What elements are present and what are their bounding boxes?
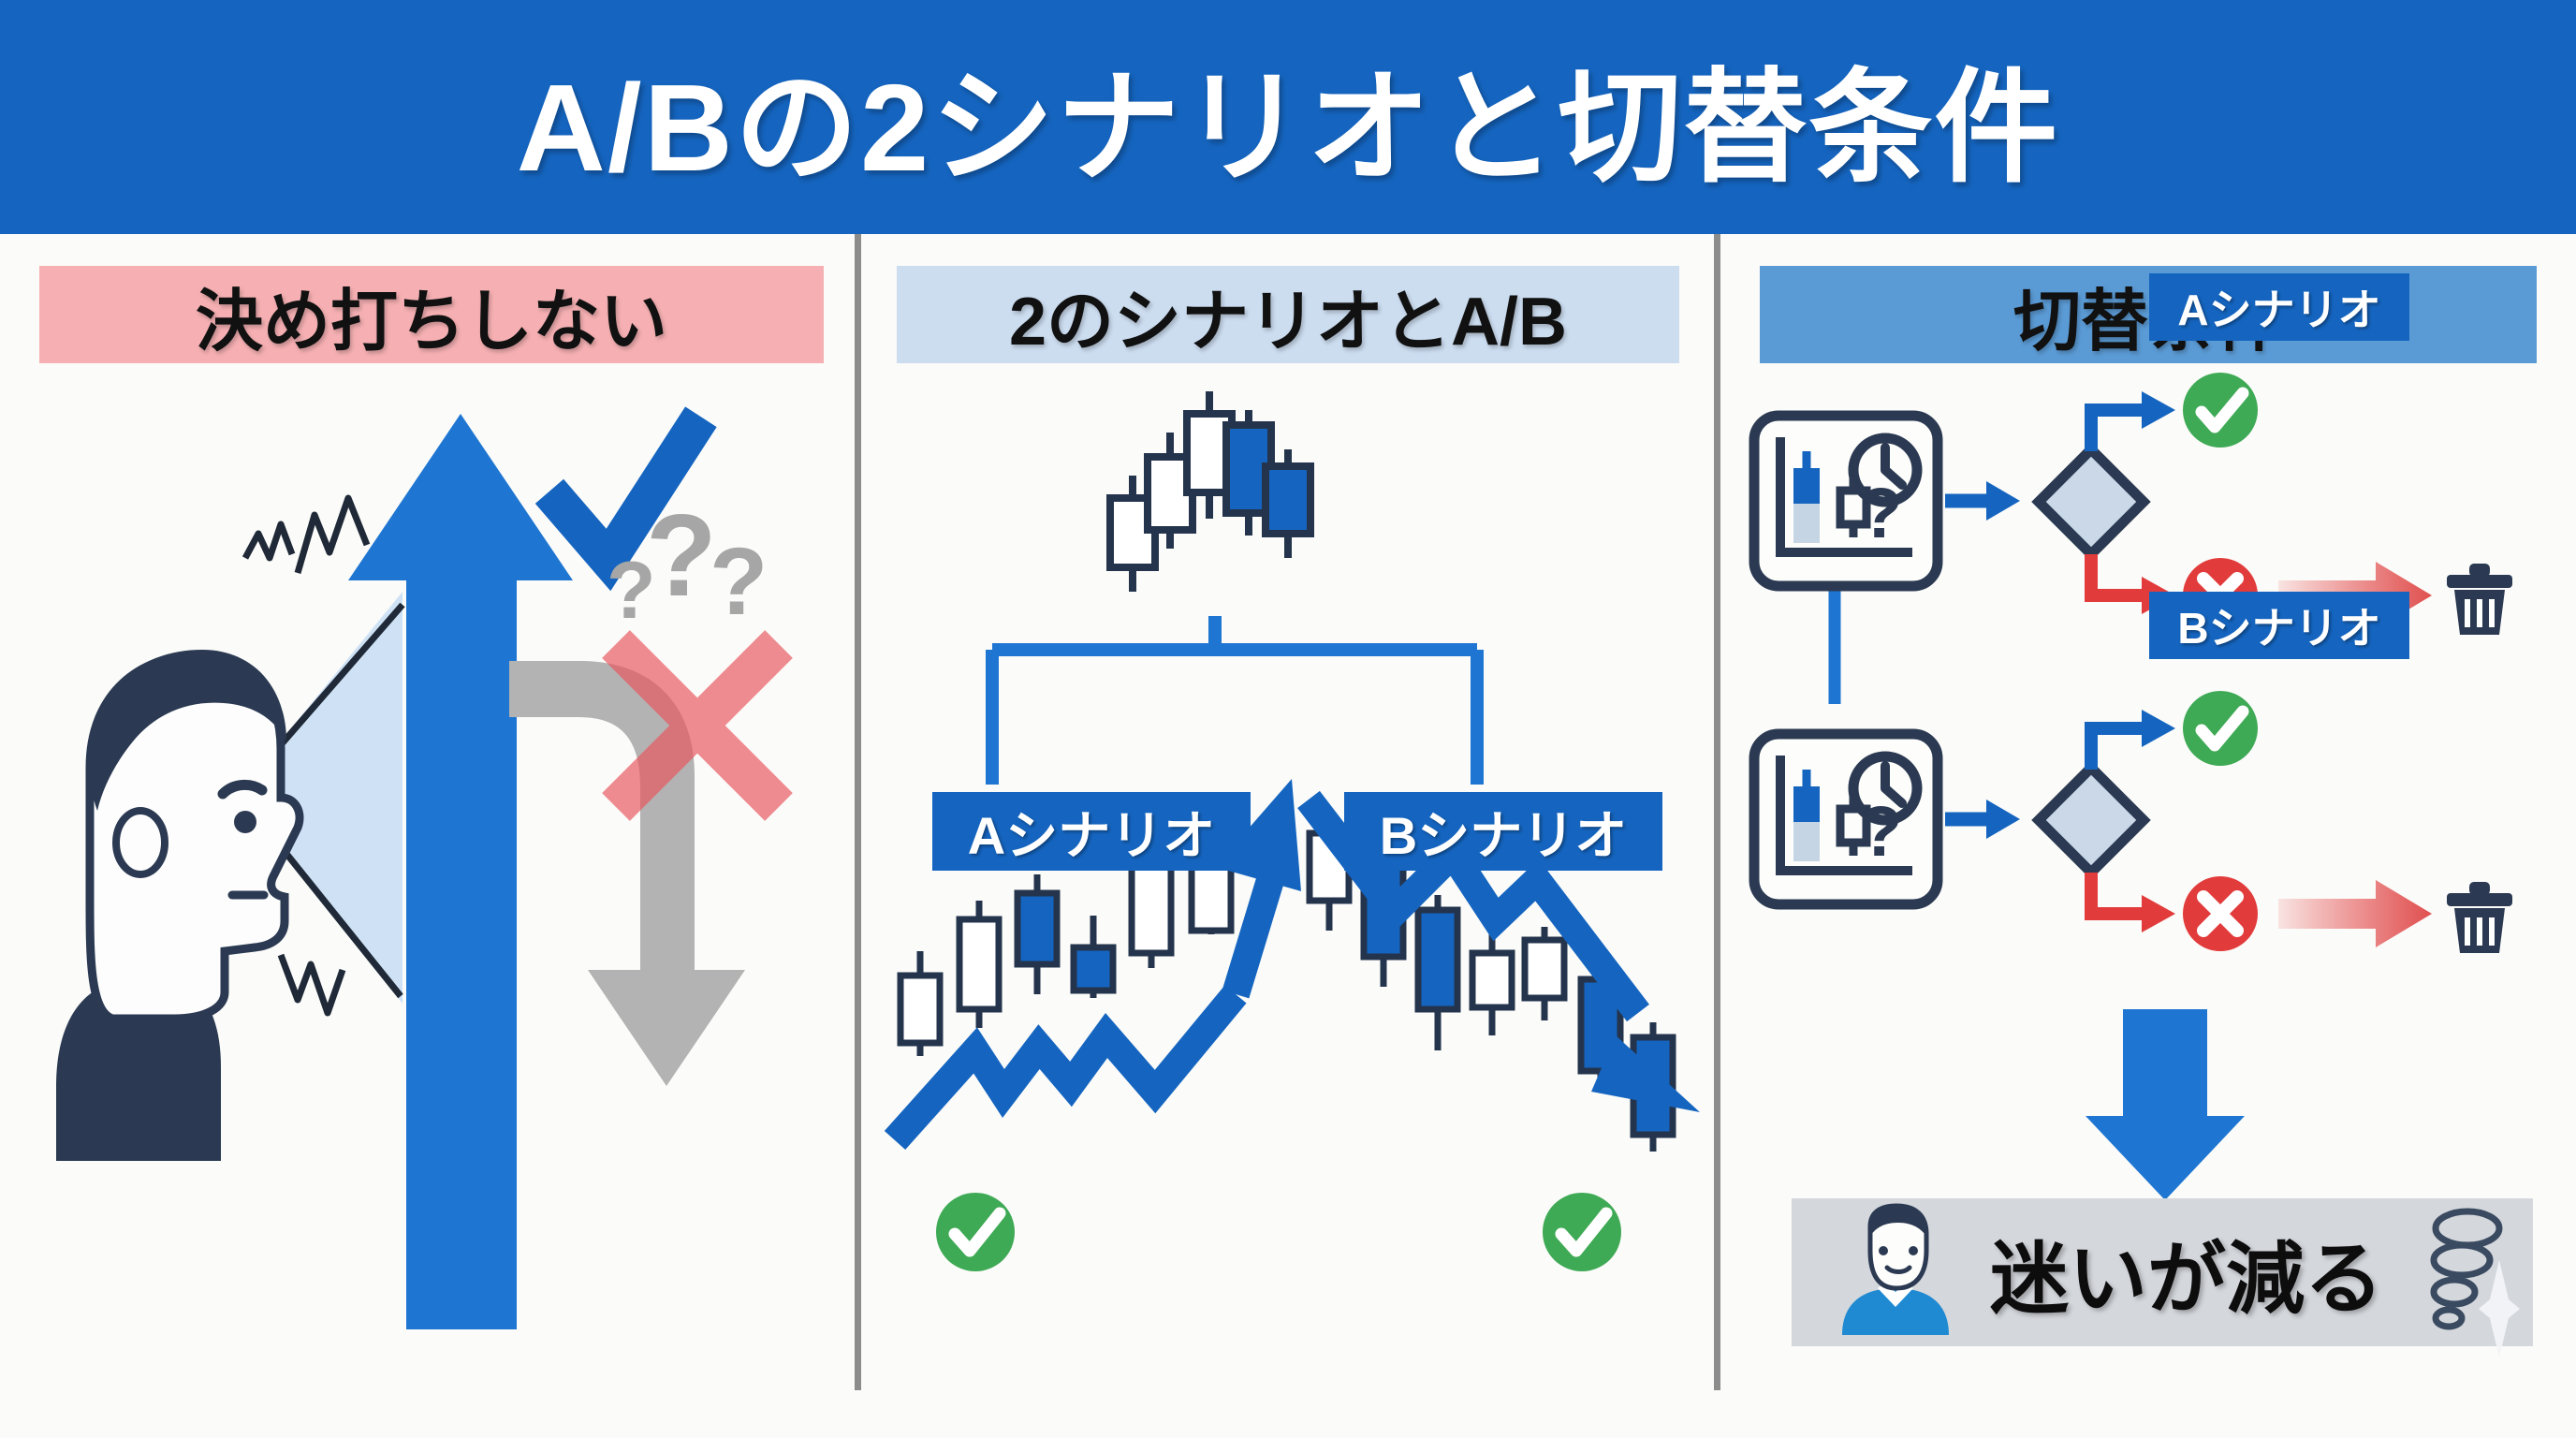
yes-branch-arrow <box>2091 710 2175 770</box>
panel-1-header: 決め打ちしない <box>39 266 824 363</box>
green-check-icon <box>2183 373 2258 448</box>
outcome-text: 迷いが減る <box>1990 1216 2383 1329</box>
no-branch-arrow <box>2091 873 2175 932</box>
person-profile-icon <box>56 650 300 1161</box>
title-banner: A/Bの2シナリオと切替条件 <box>0 0 2576 234</box>
candlestick-cluster-icon <box>1110 391 1310 592</box>
scenario-a-label-tree[interactable]: Aシナリオ <box>932 792 1251 871</box>
panels-container: 決め打ちしない <box>0 234 2576 1438</box>
panel-2-illustration <box>861 380 1715 1438</box>
chart-clock-question-card-icon[interactable]: ? <box>1754 734 1938 904</box>
outcome-bar: 迷いが減る <box>1792 1198 2533 1346</box>
decision-diamond-icon[interactable] <box>2039 449 2144 554</box>
trash-can-icon[interactable] <box>2447 882 2512 953</box>
svg-text:?: ? <box>646 492 717 621</box>
svg-text:?: ? <box>1859 792 1902 872</box>
panel-switch-conditions: 切替条件 <box>1720 234 2576 1438</box>
green-check-icon <box>1543 1193 1621 1271</box>
svg-text:?: ? <box>1859 474 1902 553</box>
red-gradient-arrow-icon <box>2278 880 2432 947</box>
person-avatar-icon <box>1825 1202 1966 1343</box>
panel-1-illustration: ? ? ? <box>0 374 857 1432</box>
panel-divider-2 <box>1714 234 1720 1390</box>
yes-branch-arrow <box>2091 391 2175 451</box>
panel-3-header: 切替条件 <box>1760 266 2537 363</box>
swirl-sparkle-icon <box>2400 1202 2522 1343</box>
chart-clock-question-card-icon[interactable]: ? <box>1754 416 1938 586</box>
panel-two-scenarios: 2のシナリオとA/B <box>861 234 1715 1438</box>
decision-diamond-icon[interactable] <box>2039 768 2144 873</box>
flow-arrow-right <box>1945 481 2020 521</box>
green-check-icon <box>936 1193 1015 1271</box>
flow-row-2-scenario-label[interactable]: Bシナリオ <box>2149 592 2409 659</box>
tree-connector <box>992 616 1477 785</box>
blue-down-arrow-icon <box>2086 1009 2245 1200</box>
svg-text:?: ? <box>710 528 768 635</box>
red-cross-icon <box>2183 876 2258 951</box>
panel-no-fixed-bet: 決め打ちしない <box>0 234 857 1438</box>
green-check-icon <box>2183 691 2258 766</box>
panel-2-header: 2のシナリオとA/B <box>897 266 1679 363</box>
trash-can-icon[interactable] <box>2447 564 2512 635</box>
infographic-root: A/Bの2シナリオと切替条件 決め打ちしない <box>0 0 2576 1438</box>
flow-arrow-right <box>1945 800 2020 839</box>
scenario-b-label-tree[interactable]: Bシナリオ <box>1344 792 1662 871</box>
page-title: A/Bの2シナリオと切替条件 <box>517 28 2060 207</box>
flow-row-1-scenario-label[interactable]: Aシナリオ <box>2149 273 2409 341</box>
